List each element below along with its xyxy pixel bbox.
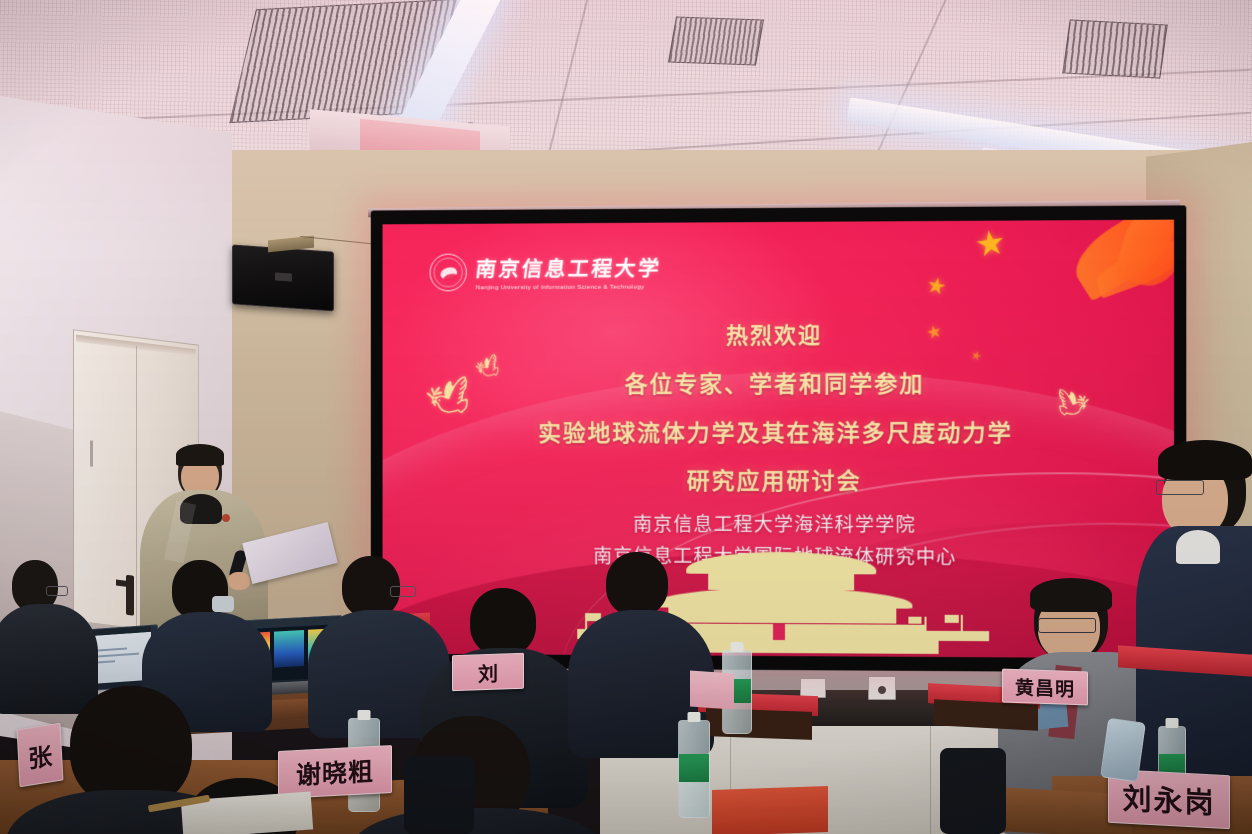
attendee-hair bbox=[1158, 440, 1252, 480]
wall-outlet[interactable] bbox=[868, 676, 896, 700]
hvac-vent-icon bbox=[1062, 19, 1168, 78]
outlet-port bbox=[878, 686, 886, 694]
attendee-glasses-icon bbox=[1038, 618, 1096, 633]
attendee-glasses-icon bbox=[1156, 480, 1204, 495]
university-logo: 南京信息工程大学 Nanjing University of Informati… bbox=[430, 253, 662, 292]
gate-flag bbox=[908, 617, 921, 624]
university-logo-text: 南京信息工程大学 Nanjing University of Informati… bbox=[476, 253, 662, 292]
university-name-en: Nanjing University of Information Scienc… bbox=[476, 283, 662, 291]
desk-leg bbox=[934, 699, 1038, 730]
topic-line-1: 实验地球流体力学及其在海洋多尺度动力学 bbox=[383, 414, 1175, 448]
gate-right-wing bbox=[927, 631, 990, 641]
presenter-hair bbox=[176, 444, 224, 466]
attendee-glasses-icon bbox=[46, 586, 68, 596]
bottle-label bbox=[679, 754, 709, 783]
name-placard: 黄昌明 bbox=[1002, 668, 1088, 705]
bottle-cap bbox=[688, 712, 701, 722]
pink-card bbox=[690, 670, 734, 709]
attendee bbox=[576, 552, 694, 742]
name-placard: 刘 bbox=[452, 653, 524, 692]
gate-flagpole bbox=[961, 615, 963, 633]
bottle-cap bbox=[731, 642, 744, 652]
name-placard: 谢晓粗 bbox=[278, 745, 392, 799]
hvac-vent-icon bbox=[668, 16, 764, 65]
conference-room-photo: ★ ★ ★ ★ 🕊 🕊 🕊 南京信息工程大学 Nanjing Universit… bbox=[0, 0, 1252, 834]
welcome-line: 热烈欢迎 bbox=[383, 317, 1175, 351]
name-placard: 张 bbox=[17, 723, 64, 788]
door-handle[interactable] bbox=[126, 575, 134, 616]
wainscot-seam bbox=[930, 726, 931, 834]
presenter-badge-icon bbox=[222, 514, 230, 522]
host-line-1: 南京信息工程大学海洋科学学院 bbox=[383, 509, 1175, 538]
attendee-mask-icon bbox=[212, 596, 234, 612]
university-name-cn: 南京信息工程大学 bbox=[474, 253, 663, 284]
star-icon: ★ bbox=[973, 225, 1008, 263]
topic-line-2: 研究应用研讨会 bbox=[383, 462, 1175, 497]
star-icon: ★ bbox=[924, 273, 948, 299]
emblem-swirl bbox=[439, 265, 458, 280]
attendee bbox=[314, 556, 434, 726]
university-emblem-icon bbox=[430, 254, 467, 292]
wall-speaker bbox=[232, 244, 334, 311]
bottle-cap bbox=[1166, 718, 1179, 728]
gate-flagpole bbox=[925, 617, 927, 633]
water-bottle[interactable] bbox=[678, 720, 710, 818]
door-split bbox=[136, 346, 137, 628]
chair-back bbox=[404, 756, 474, 834]
chair-back bbox=[940, 748, 1006, 834]
attendee-body bbox=[352, 808, 602, 834]
gate-colonnade bbox=[668, 607, 896, 624]
orange-folder bbox=[712, 786, 828, 834]
attendee-head bbox=[470, 588, 536, 656]
gate-gateway bbox=[773, 624, 785, 640]
viz-panel bbox=[274, 630, 304, 668]
attendee-glasses-icon bbox=[390, 586, 416, 597]
attendee-head bbox=[606, 552, 668, 616]
gate-flag bbox=[945, 615, 959, 623]
bottle-cap bbox=[358, 710, 371, 720]
attendee-hair bbox=[1030, 578, 1112, 612]
door-hinge bbox=[90, 440, 93, 466]
attendee-collar bbox=[1176, 530, 1220, 564]
speaker-badge bbox=[275, 272, 292, 281]
audience-line: 各位专家、学者和同学参加 bbox=[383, 364, 1175, 399]
gate-upper-roof bbox=[686, 552, 876, 575]
